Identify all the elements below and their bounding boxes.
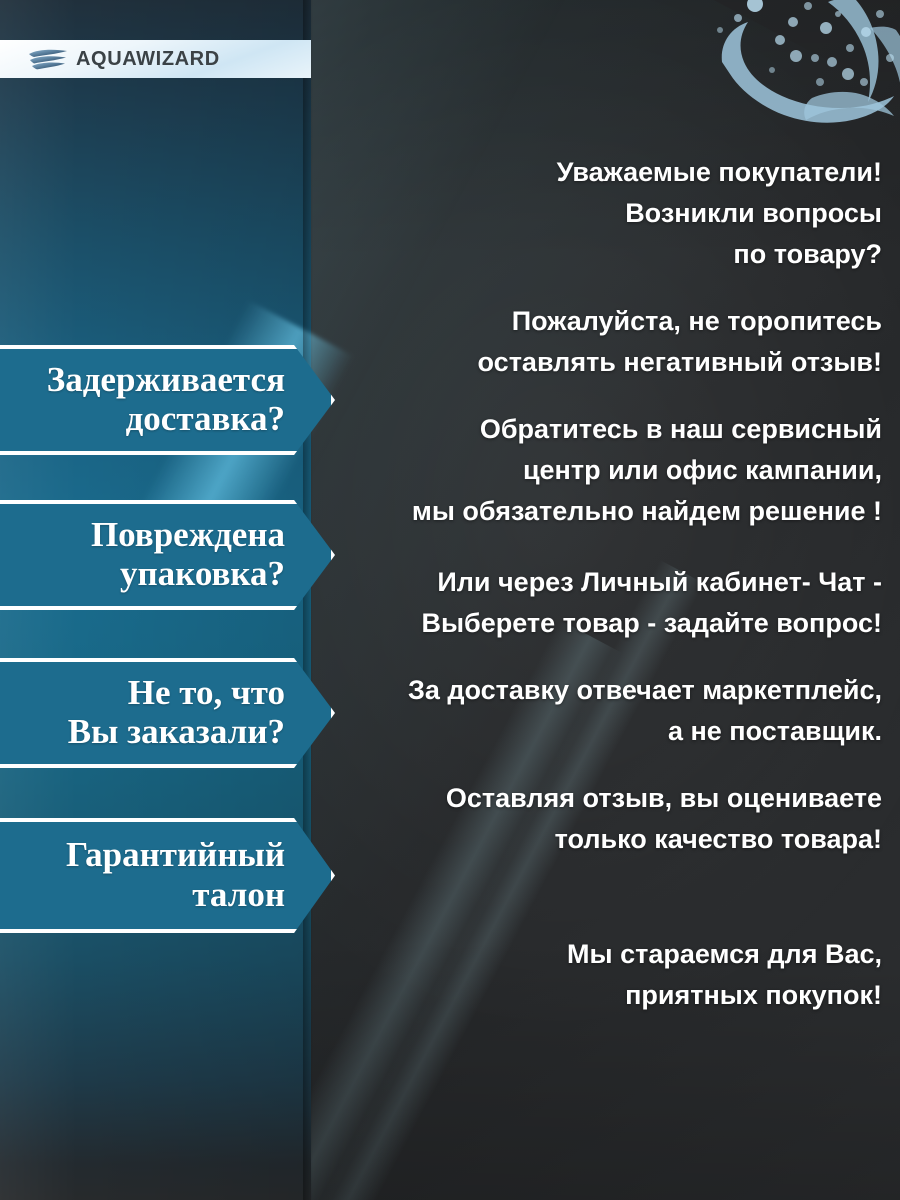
wave-icon	[28, 48, 68, 70]
banner-delivery-delayed[interactable]: Задерживается доставка?	[0, 345, 335, 455]
spacer	[330, 644, 882, 670]
message-greeting: Уважаемые покупатели! Возникли вопросы п…	[330, 152, 882, 275]
brand-logo: AQUAWIZARD	[28, 48, 220, 71]
message-review-quality: Оставляя отзыв, вы оцениваете только кач…	[330, 778, 882, 860]
banner-warranty-card[interactable]: Гарантийный талон	[0, 818, 335, 933]
spacer	[330, 383, 882, 409]
water-splash-icon	[660, 0, 900, 150]
spacer	[330, 752, 882, 778]
banner-label: Повреждена упаковка?	[91, 515, 285, 593]
promo-card: AQUAWIZARD Задерживается доставка? Повре…	[0, 0, 900, 1200]
spacer	[330, 860, 882, 934]
banner-damaged-packaging[interactable]: Повреждена упаковка?	[0, 500, 335, 610]
banner-label: Не то, что Вы заказали?	[68, 673, 285, 751]
banner-label: Гарантийный талон	[66, 835, 285, 913]
message-contact-service: Обратитесь в наш сервисный центр или офи…	[330, 409, 882, 532]
logo-bar: AQUAWIZARD	[0, 40, 311, 78]
brand-name: AQUAWIZARD	[76, 48, 220, 71]
message-dont-rush: Пожалуйста, не торопитесь оставлять нега…	[330, 301, 882, 383]
left-sidebar-edge-shadow	[303, 0, 313, 1200]
spacer	[330, 275, 882, 301]
banner-label: Задерживается доставка?	[47, 360, 285, 438]
message-personal-account: Или через Личный кабинет- Чат - Выберете…	[330, 562, 882, 644]
message-closing: Мы стараемся для Вас, приятных покупок!	[330, 934, 882, 1016]
banner-wrong-item[interactable]: Не то, что Вы заказали?	[0, 658, 335, 768]
spacer	[330, 532, 882, 562]
message-marketplace-delivery: За доставку отвечает маркетплейс, а не п…	[330, 670, 882, 752]
message-column: Уважаемые покупатели! Возникли вопросы п…	[330, 152, 882, 1017]
